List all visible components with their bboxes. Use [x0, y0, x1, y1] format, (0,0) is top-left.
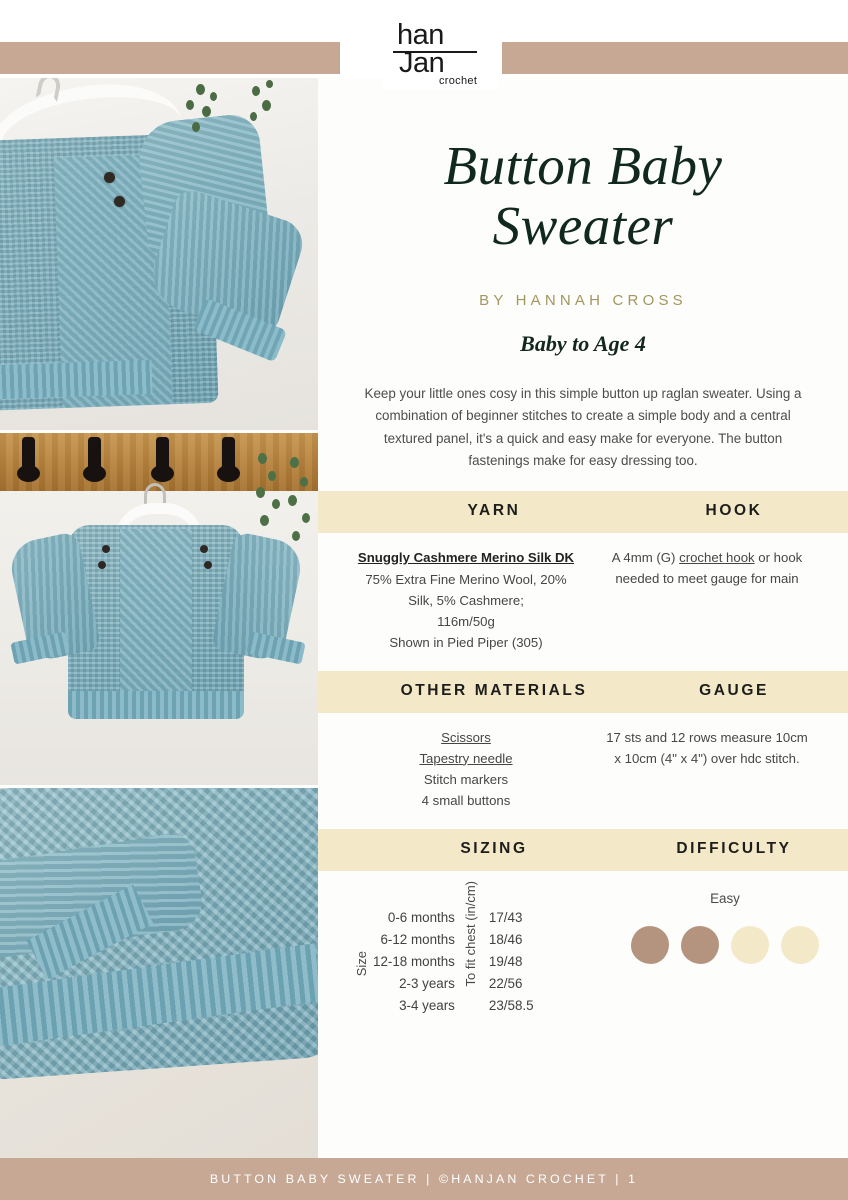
material-item-tapestry-needle[interactable]: Tapestry needle	[419, 751, 512, 766]
yarn-hook-header-bar: YARN HOOK	[318, 491, 848, 533]
photo2-rack-hook	[156, 437, 169, 477]
hook-text-before: A 4mm (G)	[612, 550, 679, 565]
photo2-rack-hook	[222, 437, 235, 477]
sizing-axis-label-size: Size	[354, 951, 370, 976]
photo2-button	[102, 545, 110, 553]
table-row: 6-12 months	[373, 929, 455, 951]
photo1-plant-leaf	[266, 80, 273, 88]
yarn-details: Snuggly Cashmere Merino Silk DK 75% Extr…	[318, 533, 588, 653]
sizing-difficulty-header-bar: SIZING DIFFICULTY	[318, 829, 848, 871]
photo2-plant-leaf	[272, 499, 280, 509]
sizing-size-column: 0-6 months 6-12 months 12-18 months 2-3 …	[373, 907, 455, 1017]
hook-section-header: HOOK	[636, 502, 832, 520]
other-materials-section-header: OTHER MATERIALS	[366, 682, 622, 700]
difficulty-rating: Easy	[618, 891, 832, 964]
photo2-plant-leaf	[288, 495, 297, 506]
pattern-page: han Jan crochet	[0, 0, 848, 1200]
material-item-stitch-markers: Stitch markers	[424, 772, 508, 787]
difficulty-dots	[618, 926, 832, 964]
crochet-hook-link[interactable]: crochet hook	[679, 550, 755, 565]
difficulty-dot-empty	[781, 926, 819, 964]
yarn-composition: 75% Extra Fine Merino Wool, 20% Silk, 5%…	[365, 572, 566, 608]
difficulty-section-header: DIFFICULTY	[636, 840, 832, 858]
table-row: 12-18 months	[373, 951, 455, 973]
photo2-plant-leaf	[256, 487, 265, 498]
other-materials-list: Scissors Tapestry needle Stitch markers …	[318, 713, 588, 811]
photo-column	[0, 78, 318, 1158]
table-row: 17/43	[489, 907, 534, 929]
photo2-plant-leaf	[268, 471, 276, 481]
photo1-plant-leaf	[262, 100, 271, 111]
photo2-plant-leaf	[292, 531, 300, 541]
hook-details: A 4mm (G) crochet hook or hook needed to…	[588, 533, 848, 653]
photo1-plant-leaf	[250, 112, 257, 121]
photo1-plant-leaf	[210, 92, 217, 101]
photo2-button	[204, 561, 212, 569]
difficulty-dot-empty	[731, 926, 769, 964]
yarn-name-link[interactable]: Snuggly Cashmere Merino Silk DK	[356, 547, 576, 568]
photo-sweater-shoulder-detail	[0, 78, 318, 430]
photo2-plant-leaf	[258, 453, 267, 464]
header-rule-left	[0, 42, 340, 74]
difficulty-dot-filled	[631, 926, 669, 964]
logo-text-jan: Jan	[399, 48, 444, 78]
photo1-button-upper	[104, 172, 115, 183]
photo2-button	[200, 545, 208, 553]
sizing-difficulty-row: Size 0-6 months 6-12 months 12-18 months…	[318, 871, 848, 1051]
photo2-plant-leaf	[260, 515, 269, 526]
gauge-details: 17 sts and 12 rows measure 10cm x 10cm (…	[588, 713, 848, 811]
footer-text: BUTTON BABY SWEATER | ©HANJAN CROCHET | …	[210, 1172, 638, 1186]
logo-text-han: han	[397, 20, 444, 50]
photo1-plant-leaf	[252, 86, 260, 96]
yarn-hook-row: Snuggly Cashmere Merino Silk DK 75% Extr…	[318, 533, 848, 653]
gauge-section-header: GAUGE	[636, 682, 832, 700]
logo-text-crochet: crochet	[439, 75, 477, 87]
material-item-buttons: 4 small buttons	[422, 793, 511, 808]
photo2-plant-leaf	[300, 477, 308, 487]
photo2-plant-leaf	[302, 513, 310, 523]
page-footer: BUTTON BABY SWEATER | ©HANJAN CROCHET | …	[0, 1158, 848, 1200]
table-row: 2-3 years	[373, 973, 455, 995]
photo1-plant-leaf	[202, 106, 211, 117]
page-header-band: han Jan crochet	[0, 0, 848, 78]
author-byline: BY HANNAH CROSS	[318, 292, 848, 309]
photo2-ribbed-hem	[68, 691, 244, 719]
sizing-section-header: SIZING	[366, 840, 622, 858]
table-row: 18/46	[489, 929, 534, 951]
difficulty-dot-filled	[681, 926, 719, 964]
photo2-textured-panel	[120, 529, 192, 701]
photo-sweater-full-on-rack	[0, 433, 318, 785]
materials-gauge-row: Scissors Tapestry needle Stitch markers …	[318, 713, 848, 811]
difficulty-level-label: Easy	[618, 891, 832, 906]
photo2-rack-hook	[88, 437, 101, 477]
page-title: Button Baby Sweater	[348, 136, 818, 256]
sizing-table: Size 0-6 months 6-12 months 12-18 months…	[354, 907, 534, 1017]
material-item-scissors[interactable]: Scissors	[441, 730, 491, 745]
yarn-colourway: Shown in Pied Piper (305)	[389, 635, 542, 650]
yarn-length: 116m/50g	[437, 614, 495, 629]
yarn-section-header: YARN	[366, 502, 622, 520]
header-rule-right	[502, 42, 848, 74]
pattern-info-column: Button Baby Sweater BY HANNAH CROSS Baby…	[318, 78, 848, 1158]
materials-gauge-header-bar: OTHER MATERIALS GAUGE	[318, 671, 848, 713]
pattern-description: Keep your little ones cosy in this simpl…	[360, 383, 806, 473]
hanjan-logo[interactable]: han Jan crochet	[383, 18, 499, 90]
photo1-plant-leaf	[192, 122, 200, 132]
photo1-button-lower	[114, 196, 125, 207]
size-range-subtitle: Baby to Age 4	[318, 331, 848, 357]
photo1-plant-leaf	[186, 100, 194, 110]
table-row: 23/58.5	[489, 995, 534, 1017]
photo2-rack-hook	[22, 437, 35, 477]
photo2-plant-leaf	[290, 457, 299, 468]
table-row: 0-6 months	[373, 907, 455, 929]
table-row: 19/48	[489, 951, 534, 973]
table-row: 3-4 years	[373, 995, 455, 1017]
photo2-button	[98, 561, 106, 569]
sizing-axis-label-chest: To fit chest (in/cm)	[463, 881, 479, 986]
photo-stitch-texture-detail	[0, 788, 318, 1158]
sizing-chest-column: 17/43 18/46 19/48 22/56 23/58.5	[489, 907, 534, 1017]
table-row: 22/56	[489, 973, 534, 995]
photo1-plant-leaf	[196, 84, 205, 95]
